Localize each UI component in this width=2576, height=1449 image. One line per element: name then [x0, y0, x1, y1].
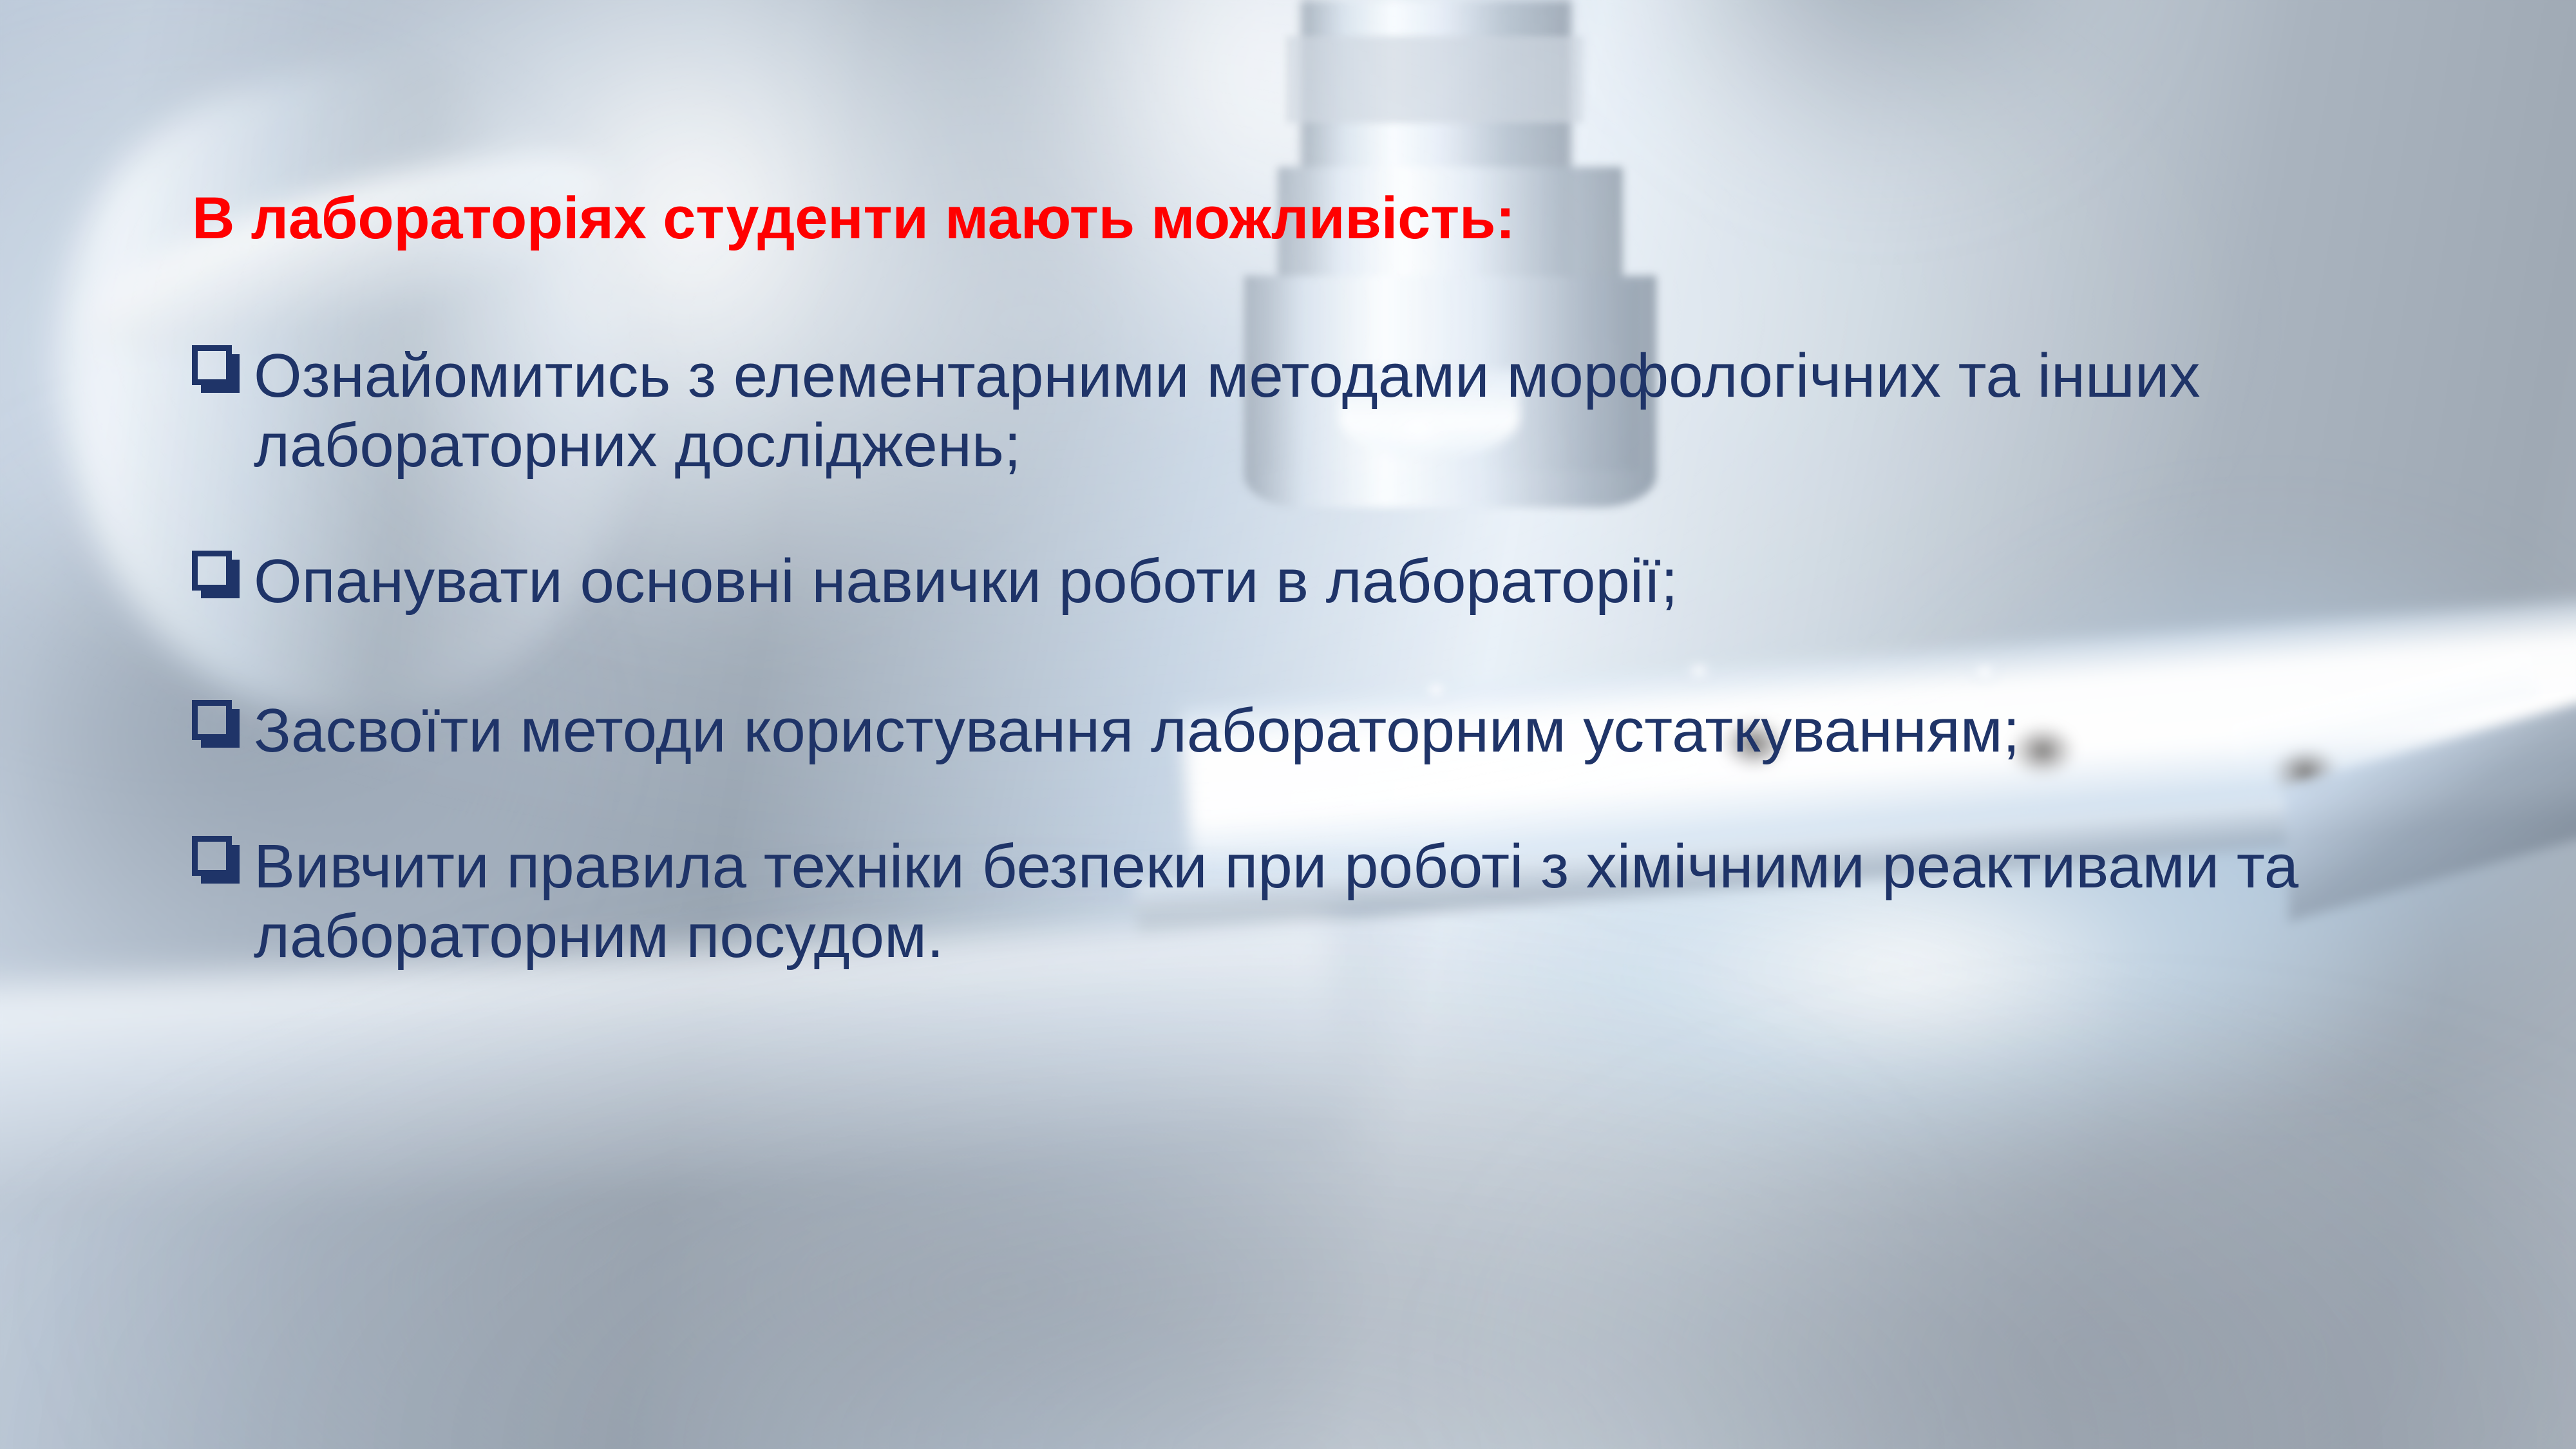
- hollow-square-bullet-icon: [192, 700, 232, 740]
- list-item: Вивчити правила техніки безпеки при робо…: [192, 832, 2459, 971]
- hollow-square-bullet-icon: [192, 345, 232, 385]
- list-item: Опанувати основні навички роботи в лабор…: [192, 547, 2459, 616]
- list-item-label: Засвоїти методи користування лабораторни…: [254, 696, 2459, 766]
- hollow-square-bullet-icon: [192, 836, 232, 876]
- slide-content: В лабораторіях студенти мають можливість…: [0, 0, 2576, 1449]
- hollow-square-bullet-icon: [192, 551, 232, 591]
- list-item: Ознайомитись з елементарними методами мо…: [192, 341, 2459, 480]
- bullet-list: Ознайомитись з елементарними методами мо…: [192, 341, 2459, 971]
- list-item-label: Вивчити правила техніки безпеки при робо…: [254, 832, 2459, 971]
- list-item: Засвоїти методи користування лабораторни…: [192, 696, 2459, 766]
- list-item-label: Ознайомитись з елементарними методами мо…: [254, 341, 2459, 480]
- slide-title: В лабораторіях студенти мають можливість…: [192, 187, 1515, 251]
- list-item-label: Опанувати основні навички роботи в лабор…: [254, 547, 2459, 616]
- presentation-slide: В лабораторіях студенти мають можливість…: [0, 0, 2576, 1449]
